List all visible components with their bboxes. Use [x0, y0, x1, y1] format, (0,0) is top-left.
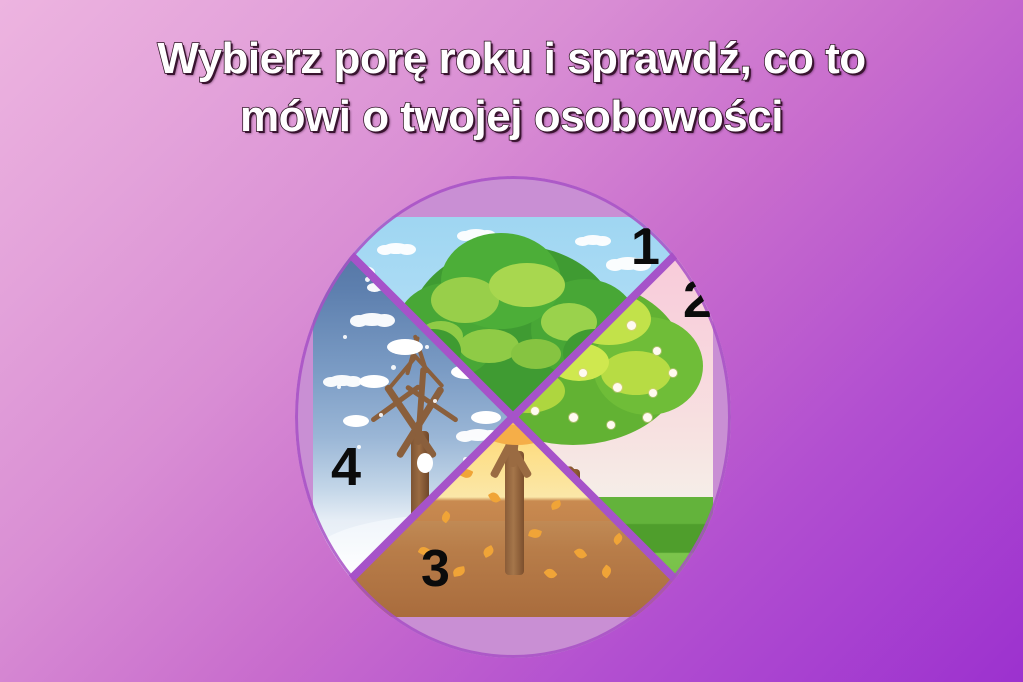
summer-foliage-highlight — [489, 263, 565, 307]
snowflake-icon — [337, 385, 341, 389]
wheel-segments — [313, 217, 713, 617]
snowflake-icon — [425, 345, 429, 349]
snow-cap — [359, 375, 389, 388]
blossom-icon — [569, 413, 578, 422]
cloud-icon — [383, 243, 409, 254]
cloud-icon — [329, 375, 355, 386]
falling-leaf-icon — [550, 500, 562, 510]
blossom-icon — [649, 389, 657, 397]
snowflake-icon — [343, 335, 347, 339]
page-title-line-1: Wybierz porę roku i sprawdź, co to — [0, 30, 1023, 88]
snowflake-icon — [463, 457, 468, 462]
blossom-icon — [531, 407, 539, 415]
blossom-icon — [613, 383, 622, 392]
page-title-line-2: mówi o twojej osobowości — [0, 88, 1023, 146]
snow-cap — [387, 339, 423, 355]
blossom-icon — [653, 347, 661, 355]
seasons-wheel: 1 2 3 4 — [295, 176, 731, 658]
blossom-icon — [669, 369, 677, 377]
segment-number-2[interactable]: 2 — [683, 274, 712, 326]
segment-number-3[interactable]: 3 — [421, 543, 450, 595]
segment-number-4[interactable]: 4 — [331, 440, 361, 494]
snow-cap — [343, 415, 369, 427]
winter-branch — [405, 384, 459, 423]
snowflake-icon — [391, 365, 396, 370]
blossom-icon — [607, 421, 615, 429]
spring-foliage-highlight — [601, 351, 671, 395]
blossom-icon — [579, 369, 587, 377]
blossom-icon — [627, 321, 636, 330]
snow-cap — [417, 453, 433, 473]
cloud-icon — [581, 235, 605, 245]
segment-number-1[interactable]: 1 — [631, 221, 660, 273]
poster-canvas: Wybierz porę roku i sprawdź, co to mówi … — [0, 0, 1023, 682]
falling-leaf-icon — [488, 490, 501, 504]
blossom-icon — [643, 413, 652, 422]
summer-foliage-highlight — [511, 339, 561, 369]
snowflake-icon — [365, 277, 370, 282]
snow-cap — [471, 411, 501, 424]
cloud-icon — [357, 313, 387, 326]
falling-leaf-icon — [460, 467, 474, 480]
cloud-icon — [463, 429, 493, 441]
summer-foliage-highlight — [459, 329, 519, 363]
snowflake-icon — [433, 399, 437, 403]
snowflake-icon — [379, 413, 383, 417]
page-title: Wybierz porę roku i sprawdź, co to mówi … — [0, 30, 1023, 146]
